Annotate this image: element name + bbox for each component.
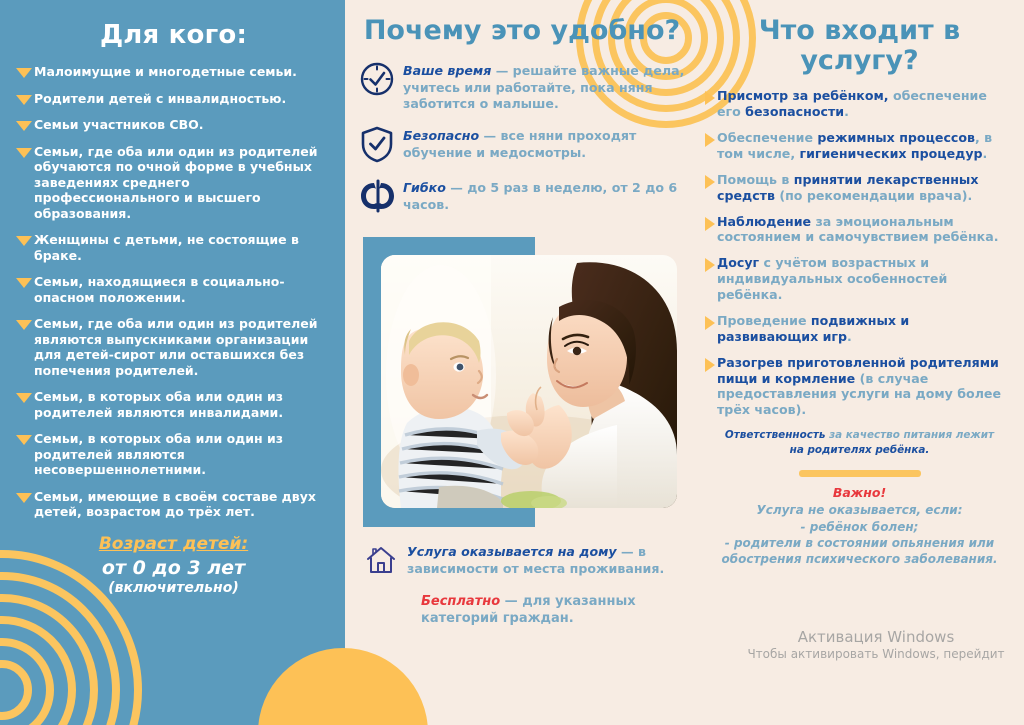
benefit-item: Безопасно — все няни проходят обучение и…: [357, 125, 687, 164]
triangle-right-icon: [705, 133, 715, 147]
triangle-down-icon: [16, 393, 32, 403]
left-list-item-label: Семьи, где оба или один из родителей обу…: [34, 144, 331, 222]
service-item-label: Проведение подвижных и развивающих игр.: [717, 313, 1014, 345]
left-list-item-label: Женщины с детьми, не состоящие в браке.: [34, 232, 331, 263]
right-column: Что входит в услугу? Присмотр за ребёнко…: [695, 0, 1024, 725]
triangle-down-icon: [16, 435, 32, 445]
age-note: (включительно): [16, 580, 331, 596]
yellow-divider: [799, 470, 921, 477]
left-column: Для кого: Малоимущие и многодетные семьи…: [0, 0, 345, 725]
left-list-item: Семьи, в которых оба или один из родител…: [16, 389, 331, 420]
triangle-right-icon: [705, 316, 715, 330]
left-items-list: Малоимущие и многодетные семьи.Родители …: [16, 64, 331, 520]
triangle-down-icon: [16, 121, 32, 131]
service-item: Обеспечение режимных процессов, в том чи…: [705, 130, 1014, 162]
triangle-right-icon: [705, 217, 715, 231]
left-list-item: Семьи, где оба или один из родителей явл…: [16, 316, 331, 378]
triangle-down-icon: [16, 148, 32, 158]
photo-block: [363, 229, 683, 529]
important-line: - родители в состоянии опьянения или обо…: [705, 535, 1014, 568]
left-list-item: Семьи, где оба или один из родителей обу…: [16, 144, 331, 222]
service-item-label: Присмотр за ребёнком, обеспечение его бе…: [717, 88, 1014, 120]
left-list-item: Женщины с детьми, не состоящие в браке.: [16, 232, 331, 263]
middle-column: Почему это удобно? Ваше время — решайте …: [345, 0, 695, 725]
service-item: Разогрев приготовленной родителями пищи …: [705, 355, 1014, 418]
home-note-lead: Услуга оказывается на дому: [407, 544, 617, 559]
left-list-item: Семьи, находящиеся в социально- опасном …: [16, 274, 331, 305]
left-list-item-label: Семьи, в которых оба или один из родител…: [34, 431, 331, 478]
service-item: Наблюдение за эмоциональным состоянием и…: [705, 214, 1014, 246]
benefit-lead: Ваше время: [403, 63, 491, 78]
benefit-text: Безопасно — все няни проходят обучение и…: [403, 125, 687, 161]
left-list-item-label: Малоимущие и многодетные семьи.: [34, 64, 297, 80]
triangle-down-icon: [16, 278, 32, 288]
triangle-right-icon: [705, 258, 715, 272]
poster-root: Для кого: Малоимущие и многодетные семьи…: [0, 0, 1024, 725]
benefit-lead: Безопасно: [403, 128, 479, 143]
service-item-label: Досуг с учётом возрастных и индивидуальн…: [717, 255, 1014, 303]
triangle-right-icon: [705, 175, 715, 189]
benefit-text: Ваше время — решайте важные дела, учитес…: [403, 60, 687, 112]
shield-check-icon: [357, 124, 397, 164]
important-line: Услуга не оказывается, если:: [705, 502, 1014, 518]
left-list-item-label: Семьи, имеющие в своём составе двух дете…: [34, 489, 331, 520]
service-item: Помощь в принятии лекарственных средств …: [705, 172, 1014, 204]
responsibility-note: Ответственность за качество питания лежи…: [705, 428, 1014, 458]
service-item: Досуг с учётом возрастных и индивидуальн…: [705, 255, 1014, 303]
left-list-item: Родители детей с инвалидностью.: [16, 91, 331, 107]
woman-and-baby-photo: [381, 255, 677, 508]
triangle-right-icon: [705, 358, 715, 372]
clock-icon: [357, 59, 397, 99]
important-lines: Услуга не оказывается, если:- ребёнок бо…: [705, 502, 1014, 567]
benefit-text: Гибко — до 5 раз в неделю, от 2 до 6 час…: [403, 177, 687, 213]
important-title: Важно!: [705, 485, 1014, 500]
left-list-item-label: Родители детей с инвалидностью.: [34, 91, 286, 107]
benefit-item: Гибко — до 5 раз в неделю, от 2 до 6 час…: [357, 177, 687, 216]
left-list-item: Малоимущие и многодетные семьи.: [16, 64, 331, 80]
triangle-down-icon: [16, 493, 32, 503]
left-column-title: Для кого:: [16, 20, 331, 50]
middle-column-title: Почему это удобно?: [357, 16, 687, 46]
age-block: Возраст детей: от 0 до 3 лет (включитель…: [16, 534, 331, 596]
left-list-item-label: Семьи, где оба или один из родителей явл…: [34, 316, 331, 378]
left-list-item: Семьи, в которых оба или один из родител…: [16, 431, 331, 478]
service-item-label: Наблюдение за эмоциональным состоянием и…: [717, 214, 1014, 246]
triangle-down-icon: [16, 95, 32, 105]
benefits-list: Ваше время — решайте важные дела, учитес…: [357, 60, 687, 216]
home-icon: [361, 540, 401, 580]
home-note-text: Услуга оказывается на дому — в зависимос…: [407, 541, 687, 577]
triangle-down-icon: [16, 236, 32, 246]
free-note-lead: Бесплатно: [421, 594, 500, 609]
triangle-down-icon: [16, 320, 32, 330]
home-note: Услуга оказывается на дому — в зависимос…: [361, 541, 687, 580]
free-note: Бесплатно — для указанных категорий граж…: [421, 594, 687, 628]
benefit-lead: Гибко: [403, 180, 446, 195]
left-list-item: Семьи участников СВО.: [16, 117, 331, 133]
service-items-list: Присмотр за ребёнком, обеспечение его бе…: [705, 88, 1014, 418]
service-item-label: Разогрев приготовленной родителями пищи …: [717, 355, 1014, 418]
triangle-right-icon: [705, 91, 715, 105]
service-item-label: Обеспечение режимных процессов, в том чи…: [717, 130, 1014, 162]
age-range: от 0 до 3 лет: [16, 557, 331, 579]
service-item: Проведение подвижных и развивающих игр.: [705, 313, 1014, 345]
important-block: Важно! Услуга не оказывается, если:- реб…: [705, 485, 1014, 567]
right-column-title: Что входит в услугу?: [705, 16, 1014, 76]
left-list-item: Семьи, имеющие в своём составе двух дете…: [16, 489, 331, 520]
left-list-item-label: Семьи участников СВО.: [34, 117, 204, 133]
left-list-item-label: Семьи, в которых оба или один из родител…: [34, 389, 331, 420]
age-title: Возраст детей:: [16, 534, 331, 554]
flexibility-icon: [357, 176, 397, 216]
triangle-down-icon: [16, 68, 32, 78]
service-item-label: Помощь в принятии лекарственных средств …: [717, 172, 1014, 204]
service-item: Присмотр за ребёнком, обеспечение его бе…: [705, 88, 1014, 120]
left-list-item-label: Семьи, находящиеся в социально- опасном …: [34, 274, 331, 305]
important-line: - ребёнок болен;: [705, 519, 1014, 535]
benefit-item: Ваше время — решайте важные дела, учитес…: [357, 60, 687, 112]
